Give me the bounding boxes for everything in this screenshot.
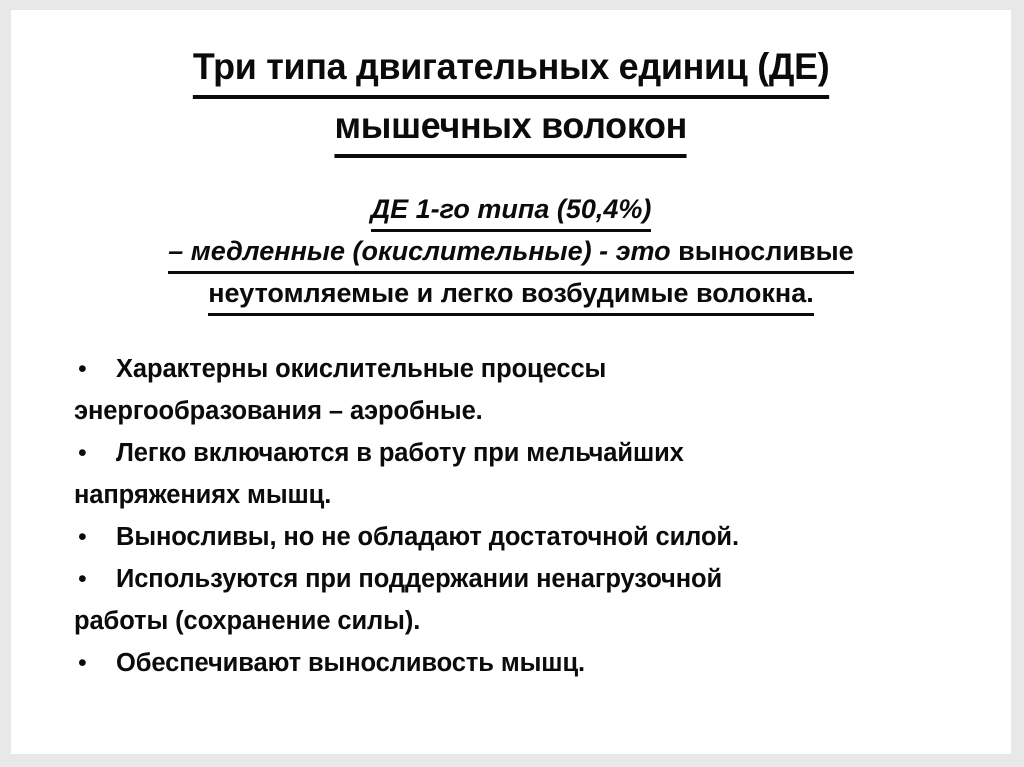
list-item: • Легко включаются в работу при мельчайш…: [63, 432, 993, 516]
subtitle-line-2-wrap: – медленные (окислительные) - это выносл…: [168, 232, 853, 274]
subtitle-line-2-italic-text: – медленные (окислительные) - это: [168, 236, 670, 266]
subtitle-line-2-regular-text: выносливые: [671, 236, 854, 266]
bullet-dot-icon: •: [78, 642, 90, 684]
slide-title-line-1-text: Три типа двигательных единиц (ДЕ): [193, 40, 830, 99]
subtitle-line-2: – медленные (окислительные) - это выносл…: [11, 232, 1011, 274]
list-item: • Используются при поддержании ненагрузо…: [63, 558, 993, 642]
bullet-4-line-2: работы (сохранение силы).: [63, 600, 993, 642]
bullet-1-line-2: энергообразования – аэробные.: [63, 390, 993, 432]
bullet-1-line-1: Характерны окислительные процессы: [63, 348, 993, 390]
slide-title-line-2-text: мышечных волокон: [335, 99, 688, 158]
slide-canvas: Три типа двигательных единиц (ДЕ) мышечн…: [11, 10, 1011, 754]
subtitle-line-3: неутомляемые и легко возбудимые волокна.: [11, 274, 1011, 316]
slide-title: Три типа двигательных единиц (ДЕ) мышечн…: [11, 40, 1011, 158]
subtitle-line-3-text: неутомляемые и легко возбудимые волокна.: [208, 274, 813, 316]
slide-title-line-2: мышечных волокон: [11, 99, 1011, 158]
bullet-list: • Характерны окислительные процессы энер…: [63, 348, 993, 684]
bullet-5-line-1: Обеспечивают выносливость мышц.: [63, 642, 993, 684]
bullet-2-line-2: напряжениях мышц.: [63, 474, 993, 516]
bullet-dot-icon: •: [78, 348, 90, 390]
subtitle-line-1-text: ДЕ 1-го типа (50,4%): [371, 190, 652, 232]
bullet-dot-icon: •: [78, 558, 90, 600]
slide-subtitle: ДЕ 1-го типа (50,4%) – медленные (окисли…: [11, 190, 1011, 316]
bullet-4-line-1: Используются при поддержании ненагрузочн…: [63, 558, 993, 600]
bullet-3-line-1: Выносливы, но не обладают достаточной си…: [63, 516, 993, 558]
slide-outer-frame: Три типа двигательных единиц (ДЕ) мышечн…: [0, 0, 1024, 767]
bullet-dot-icon: •: [78, 516, 90, 558]
slide-title-line-1: Три типа двигательных единиц (ДЕ): [11, 40, 1011, 99]
list-item: • Выносливы, но не обладают достаточной …: [63, 516, 993, 558]
list-item: • Характерны окислительные процессы энер…: [63, 348, 993, 432]
bullet-2-line-1: Легко включаются в работу при мельчайших: [63, 432, 993, 474]
bullet-dot-icon: •: [78, 432, 90, 474]
list-item: • Обеспечивают выносливость мышц.: [63, 642, 993, 684]
subtitle-line-1: ДЕ 1-го типа (50,4%): [11, 190, 1011, 232]
